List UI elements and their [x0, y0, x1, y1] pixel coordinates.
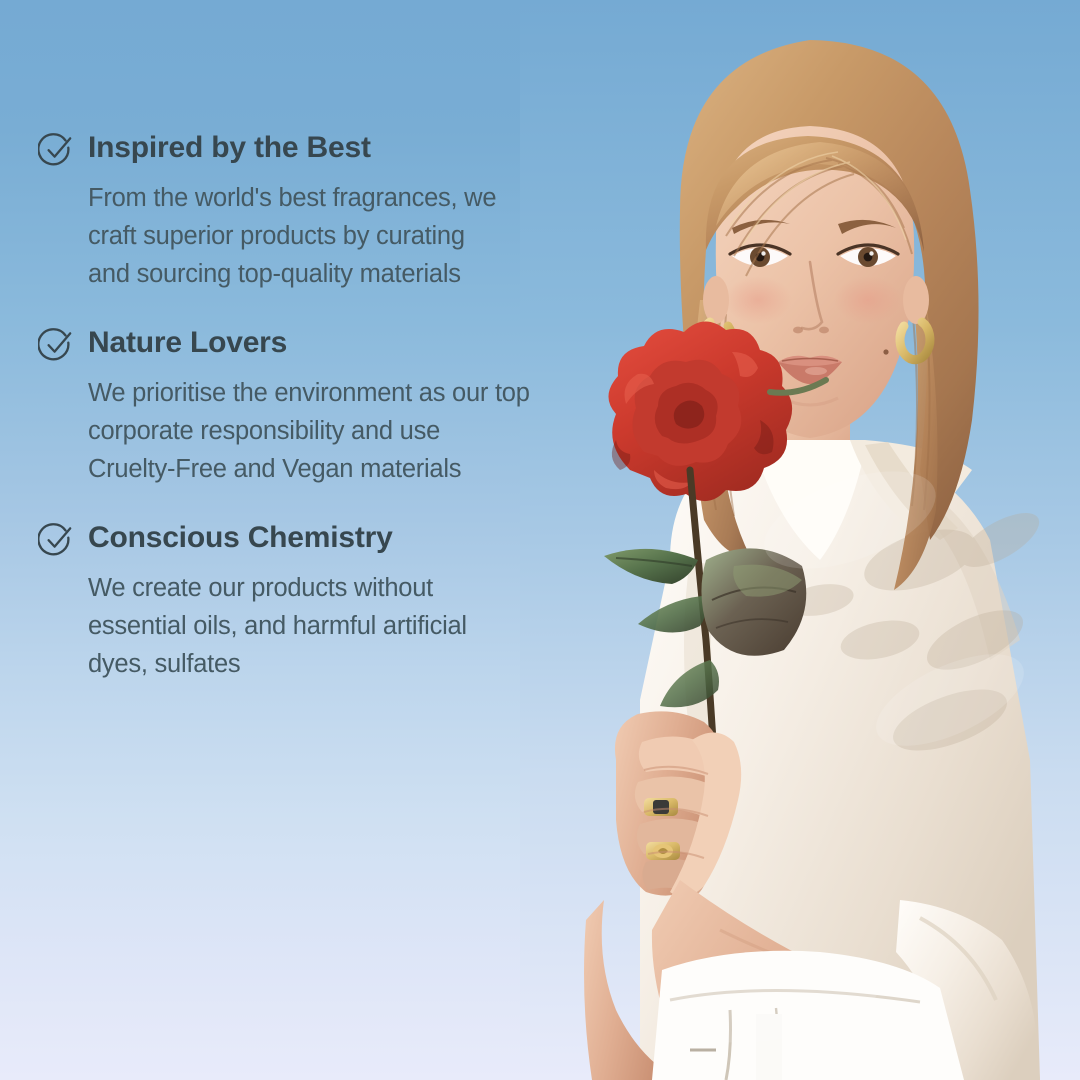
- check-circle-icon: [38, 132, 74, 168]
- feature-heading: Inspired by the Best: [88, 130, 658, 166]
- check-circle-icon-glyph: [38, 522, 74, 558]
- check-circle-icon: [38, 522, 74, 558]
- check-circle-icon: [38, 327, 74, 363]
- feature-heading: Nature Lovers: [88, 325, 658, 361]
- feature-list: Inspired by the Best From the world's be…: [38, 130, 658, 683]
- check-circle-icon-glyph: [38, 327, 74, 363]
- feature-body: From the world's best fragrances, we cra…: [88, 179, 648, 293]
- promo-canvas: Inspired by the Best From the world's be…: [0, 0, 1080, 1080]
- feature-item: Inspired by the Best From the world's be…: [38, 130, 658, 293]
- feature-item: Nature Lovers We prioritise the environm…: [38, 325, 658, 488]
- check-circle-icon-glyph: [38, 132, 74, 168]
- feature-body: We prioritise the environment as our top…: [88, 374, 648, 488]
- feature-heading: Conscious Chemistry: [88, 520, 658, 556]
- feature-item: Conscious Chemistry We create our produc…: [38, 520, 658, 683]
- feature-body: We create our products without essential…: [88, 569, 648, 683]
